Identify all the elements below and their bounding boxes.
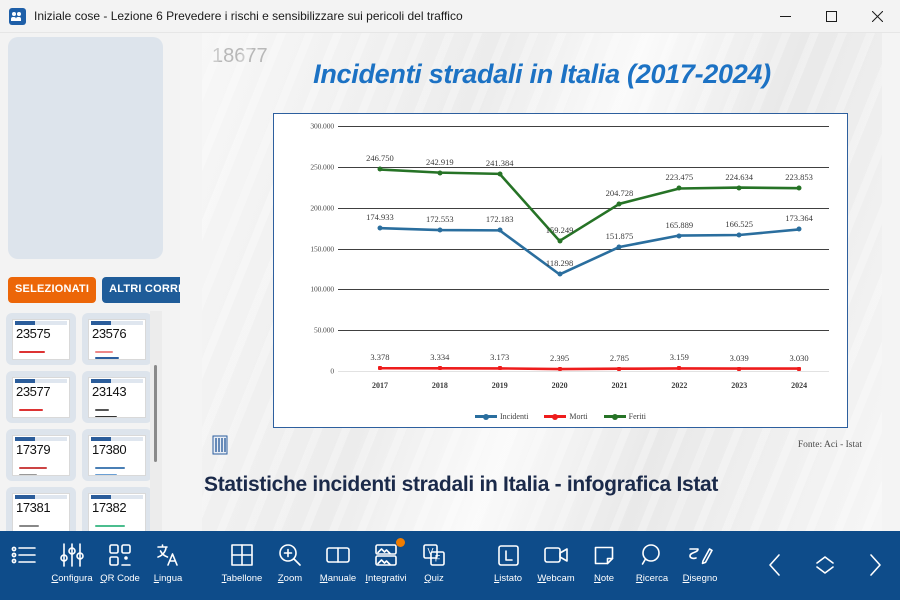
thumbnail-id: 23576 <box>92 326 126 341</box>
chart-data-label: 204.728 <box>606 188 634 198</box>
chart-data-label: 159.249 <box>546 225 574 235</box>
thumbnail-preview: 23143 <box>88 377 146 418</box>
toolbar-button-label: Listato <box>494 573 522 584</box>
thumbnail-item[interactable]: 23576 <box>82 313 152 365</box>
chart-data-label: 172.183 <box>486 214 514 224</box>
toolbar-button-label: Disegno <box>683 573 718 584</box>
thumbnail-id: 23577 <box>16 384 50 399</box>
qrcode-icon <box>108 538 132 572</box>
toolbar-button-label: Manuale <box>320 573 356 584</box>
toolbar-nav-previous[interactable] <box>750 538 800 596</box>
legend-label: Morti <box>569 412 587 421</box>
toolbar-button-label: Lingua <box>154 573 183 584</box>
thumbnail-header-bar <box>15 495 67 499</box>
thumbnail-item[interactable]: 23143 <box>82 371 152 423</box>
chart-data-label: 172.553 <box>426 214 454 224</box>
chart-data-point <box>677 233 682 238</box>
minimize-icon[interactable] <box>762 0 808 33</box>
application-window: Iniziale cose - Lezione 6 Prevedere i ri… <box>0 0 900 600</box>
grid-icon <box>230 538 254 572</box>
toolbar-button-label: Integrativi <box>365 573 406 584</box>
toolbar-button-label: Webcam <box>537 573 574 584</box>
chart-legend: IncidentiMortiFeriti <box>274 412 847 421</box>
legend-item: Feriti <box>604 412 646 421</box>
chart-data-label: 151.875 <box>606 231 634 241</box>
toolbar-button-disegno[interactable]: Disegno <box>676 538 724 596</box>
chart-data-point <box>797 186 802 191</box>
thumbnail-header-bar <box>91 379 143 383</box>
chart-data-label: 3.039 <box>730 353 749 363</box>
filter-selezionati-button[interactable]: SELEZIONATI <box>8 277 96 303</box>
sidebar: SELEZIONATI ALTRI CORRE 2357523576235772… <box>0 33 180 531</box>
chart-data-label: 241.384 <box>486 158 514 168</box>
chart-data-label: 223.475 <box>666 172 694 182</box>
chart-data-label: 173.364 <box>785 213 813 223</box>
thumbnail-header-bar <box>91 437 143 441</box>
thumbnail-header-bar <box>91 321 143 325</box>
chevron-left-icon <box>765 552 785 583</box>
chart-series-lines <box>274 114 849 429</box>
chart-data-point <box>497 228 502 233</box>
thumbnail-id: 23575 <box>16 326 50 341</box>
chart-data-point <box>497 171 502 176</box>
chart-data-point <box>737 233 742 238</box>
maximize-icon[interactable] <box>808 0 854 33</box>
svg-text:F: F <box>435 554 441 564</box>
chevron-updown-icon <box>812 554 838 581</box>
thumbnail-preview: 17380 <box>88 435 146 476</box>
thumbnail-header-bar <box>15 437 67 441</box>
toolbar-button-listato[interactable]: Listato <box>484 538 532 596</box>
chart-data-point <box>677 366 681 370</box>
thumbnail-item[interactable]: 17379 <box>6 429 76 481</box>
chart-data-point <box>378 366 382 370</box>
thumbnail-item[interactable]: 17382 <box>82 487 152 531</box>
images-icon <box>374 538 398 572</box>
thumbnail-preview: 23576 <box>88 319 146 360</box>
thumbnail-id: 17382 <box>92 500 126 515</box>
book-icon <box>325 538 351 572</box>
chart-data-label: 242.919 <box>426 157 454 167</box>
slide-title: Incidenti stradali in Italia (2017-2024) <box>202 59 882 90</box>
chart-data-label: 166.525 <box>725 219 753 229</box>
thumbnail-artwork <box>16 517 66 531</box>
chart-data-point <box>617 244 622 249</box>
legend-label: Incidenti <box>500 412 528 421</box>
toolbar-button-zoom[interactable]: Zoom <box>266 538 314 596</box>
thumbnail-artwork <box>92 517 142 531</box>
thumbnail-item[interactable]: 23575 <box>6 313 76 365</box>
people-icon <box>9 8 26 25</box>
legend-swatch <box>604 415 626 418</box>
legend-swatch <box>544 415 566 418</box>
chart-data-label: 3.030 <box>790 353 809 363</box>
chart-data-label: 2.395 <box>550 353 569 363</box>
chevron-right-icon <box>865 552 885 583</box>
chart-data-label: 224.634 <box>725 172 753 182</box>
thumbnail-artwork <box>92 401 142 415</box>
toolbar-button-label: Ricerca <box>636 573 668 584</box>
thumbnail-artwork <box>92 459 142 473</box>
chart-data-label: 174.933 <box>366 212 394 222</box>
toolbar-button-menu[interactable] <box>0 538 48 596</box>
thumbnail-header-bar <box>91 495 143 499</box>
legend-item: Incidenti <box>475 412 528 421</box>
toolbar-button-label: QR Code <box>100 573 140 584</box>
chart-data-point <box>797 367 801 371</box>
legend-swatch <box>475 415 497 418</box>
webcam-icon <box>543 538 569 572</box>
chart-line-morti <box>380 368 799 369</box>
thumbnail-preview: 17381 <box>12 493 70 532</box>
toolbar-button-lingua[interactable]: Lingua <box>144 538 192 596</box>
toolbar-button-note[interactable]: Note <box>580 538 628 596</box>
thumbnail-id: 17380 <box>92 442 126 457</box>
translate-icon <box>155 538 181 572</box>
thumbnail-header-bar <box>15 379 67 383</box>
thumbnail-preview: 17379 <box>12 435 70 476</box>
notification-badge <box>396 538 405 547</box>
thumbnail-list[interactable]: 2357523576235772314317379173801738117382 <box>4 311 156 531</box>
chart-data-label: 165.889 <box>666 220 694 230</box>
filter-buttons: SELEZIONATI ALTRI CORRE <box>8 277 173 303</box>
chart-data-label: 3.173 <box>490 352 509 362</box>
chart-data-label: 3.159 <box>670 352 689 362</box>
close-icon[interactable] <box>854 0 900 33</box>
chart-data-point <box>737 367 741 371</box>
chart-data-point <box>677 186 682 191</box>
window-title: Iniziale cose - Lezione 6 Prevedere i ri… <box>34 9 463 23</box>
thumbnail-scrollbar-thumb[interactable] <box>154 365 157 462</box>
chart-data-label: 223.853 <box>785 172 813 182</box>
search-icon <box>640 538 664 572</box>
bottom-toolbar: ConfiguraQR CodeLinguaTabelloneZoomManua… <box>0 531 900 600</box>
chart-data-label: 118.298 <box>546 258 573 268</box>
chart-data-label: 3.334 <box>430 352 449 362</box>
toolbar-nav-next[interactable] <box>850 538 900 596</box>
chart-data-point <box>797 227 802 232</box>
chart-data-label: 246.750 <box>366 153 394 163</box>
toolbar-button-manuale[interactable]: Manuale <box>314 538 362 596</box>
chart: 050.000100.000150.000200.000250.000300.0… <box>273 113 848 428</box>
thumbnail-id: 17381 <box>16 500 50 515</box>
chart-data-point <box>617 367 621 371</box>
chart-data-point <box>437 170 442 175</box>
main-content: 18677 Incidenti stradali in Italia (2017… <box>180 33 900 531</box>
istat-logo-icon <box>212 435 229 455</box>
toolbar-button-tabellone[interactable]: Tabellone <box>218 538 266 596</box>
slide-canvas[interactable]: 18677 Incidenti stradali in Italia (2017… <box>202 33 882 531</box>
chart-source: Fonte: Aci - Istat <box>798 440 862 450</box>
chart-data-point <box>437 228 442 233</box>
thumbnail-id: 17379 <box>16 442 50 457</box>
legend-item: Morti <box>544 412 587 421</box>
thumbnail-item[interactable]: 17381 <box>6 487 76 531</box>
thumbnail-artwork <box>92 343 142 357</box>
thumbnail-preview: 23575 <box>12 319 70 360</box>
chart-data-label: 3.378 <box>370 352 389 362</box>
toolbar-button-label: Configura <box>51 573 92 584</box>
note-icon <box>593 538 616 572</box>
titlebar: Iniziale cose - Lezione 6 Prevedere i ri… <box>0 0 900 33</box>
zoom-in-icon <box>278 538 302 572</box>
thumbnail-header-bar <box>15 321 67 325</box>
toolbar-button-label: Tabellone <box>222 573 263 584</box>
thumbnail-item[interactable]: 17380 <box>82 429 152 481</box>
chart-data-point <box>377 167 382 172</box>
toolbar-button-quiz[interactable]: VFQuiz <box>410 538 458 596</box>
toolbar-nav-expand[interactable] <box>800 538 850 596</box>
chart-data-point <box>438 366 442 370</box>
thumbnail-preview: 23577 <box>12 377 70 418</box>
chart-data-point <box>558 367 562 371</box>
toolbar-button-qr-code[interactable]: QR Code <box>96 538 144 596</box>
toolbar-button-integrativi[interactable]: Integrativi <box>362 538 410 596</box>
chart-data-point <box>377 226 382 231</box>
thumbnail-artwork <box>16 343 66 357</box>
toolbar-button-label: Quiz <box>424 573 444 584</box>
toolbar-button-label: Note <box>594 573 614 584</box>
thumbnail-artwork <box>16 459 66 473</box>
preview-panel[interactable] <box>8 37 163 259</box>
pencil-icon <box>687 538 713 572</box>
sliders-icon <box>59 538 85 572</box>
slide-bottom-title: Statistiche incidenti stradali in Italia… <box>202 473 882 497</box>
thumbnail-artwork <box>16 401 66 415</box>
toolbar-button-label: Zoom <box>278 573 302 584</box>
legend-label: Feriti <box>629 412 646 421</box>
toolbar-button-ricerca[interactable]: Ricerca <box>628 538 676 596</box>
chart-data-label: 2.785 <box>610 353 629 363</box>
quiz-vf-icon: VF <box>422 538 446 572</box>
window-controls <box>762 0 900 33</box>
chart-data-point <box>617 201 622 206</box>
thumbnail-item[interactable]: 23577 <box>6 371 76 423</box>
chart-data-point <box>737 185 742 190</box>
toolbar-button-configura[interactable]: Configura <box>48 538 96 596</box>
thumbnail-id: 23143 <box>92 384 126 399</box>
chart-data-point <box>557 238 562 243</box>
list-menu-icon <box>11 538 37 572</box>
listato-l-icon <box>497 538 520 572</box>
chart-data-point <box>498 366 502 370</box>
toolbar-button-webcam[interactable]: Webcam <box>532 538 580 596</box>
chart-data-point <box>557 272 562 277</box>
thumbnail-preview: 17382 <box>88 493 146 532</box>
